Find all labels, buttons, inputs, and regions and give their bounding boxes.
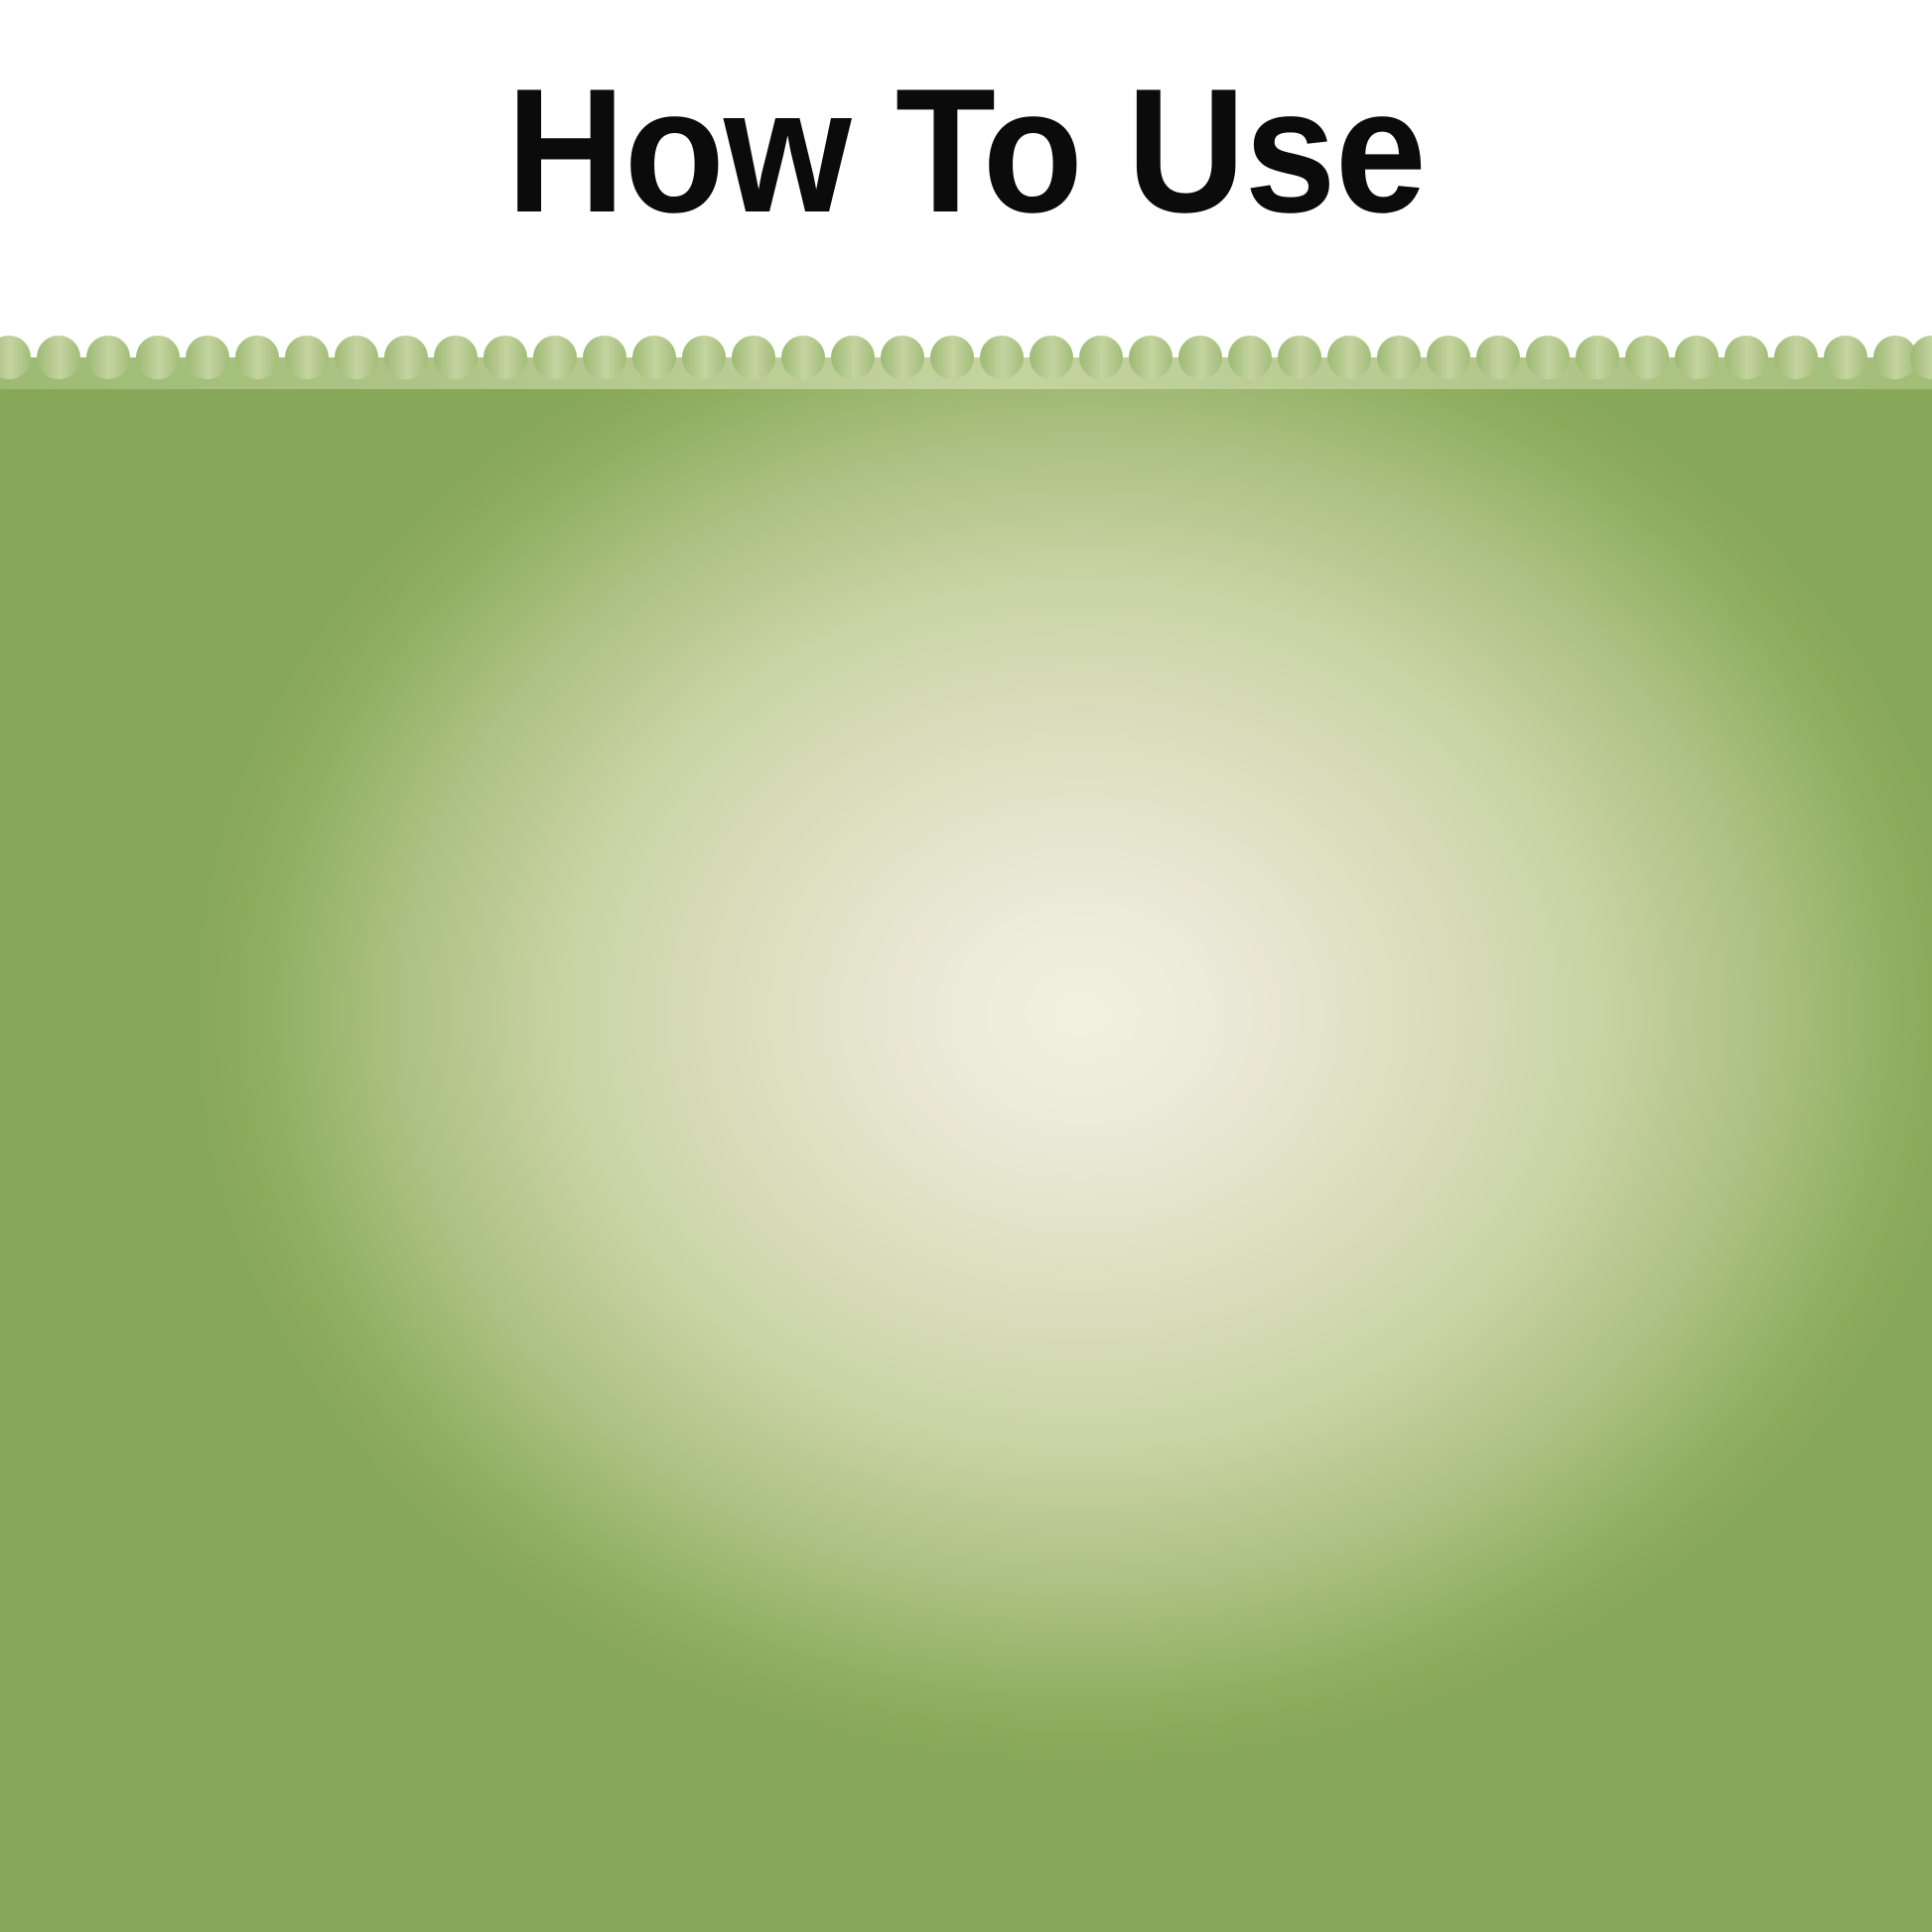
page-title: How To Use (68, 56, 1864, 246)
background-panel (0, 349, 1932, 1932)
poster-root: How To Use (0, 0, 1932, 1932)
header-band: How To Use (0, 0, 1932, 359)
